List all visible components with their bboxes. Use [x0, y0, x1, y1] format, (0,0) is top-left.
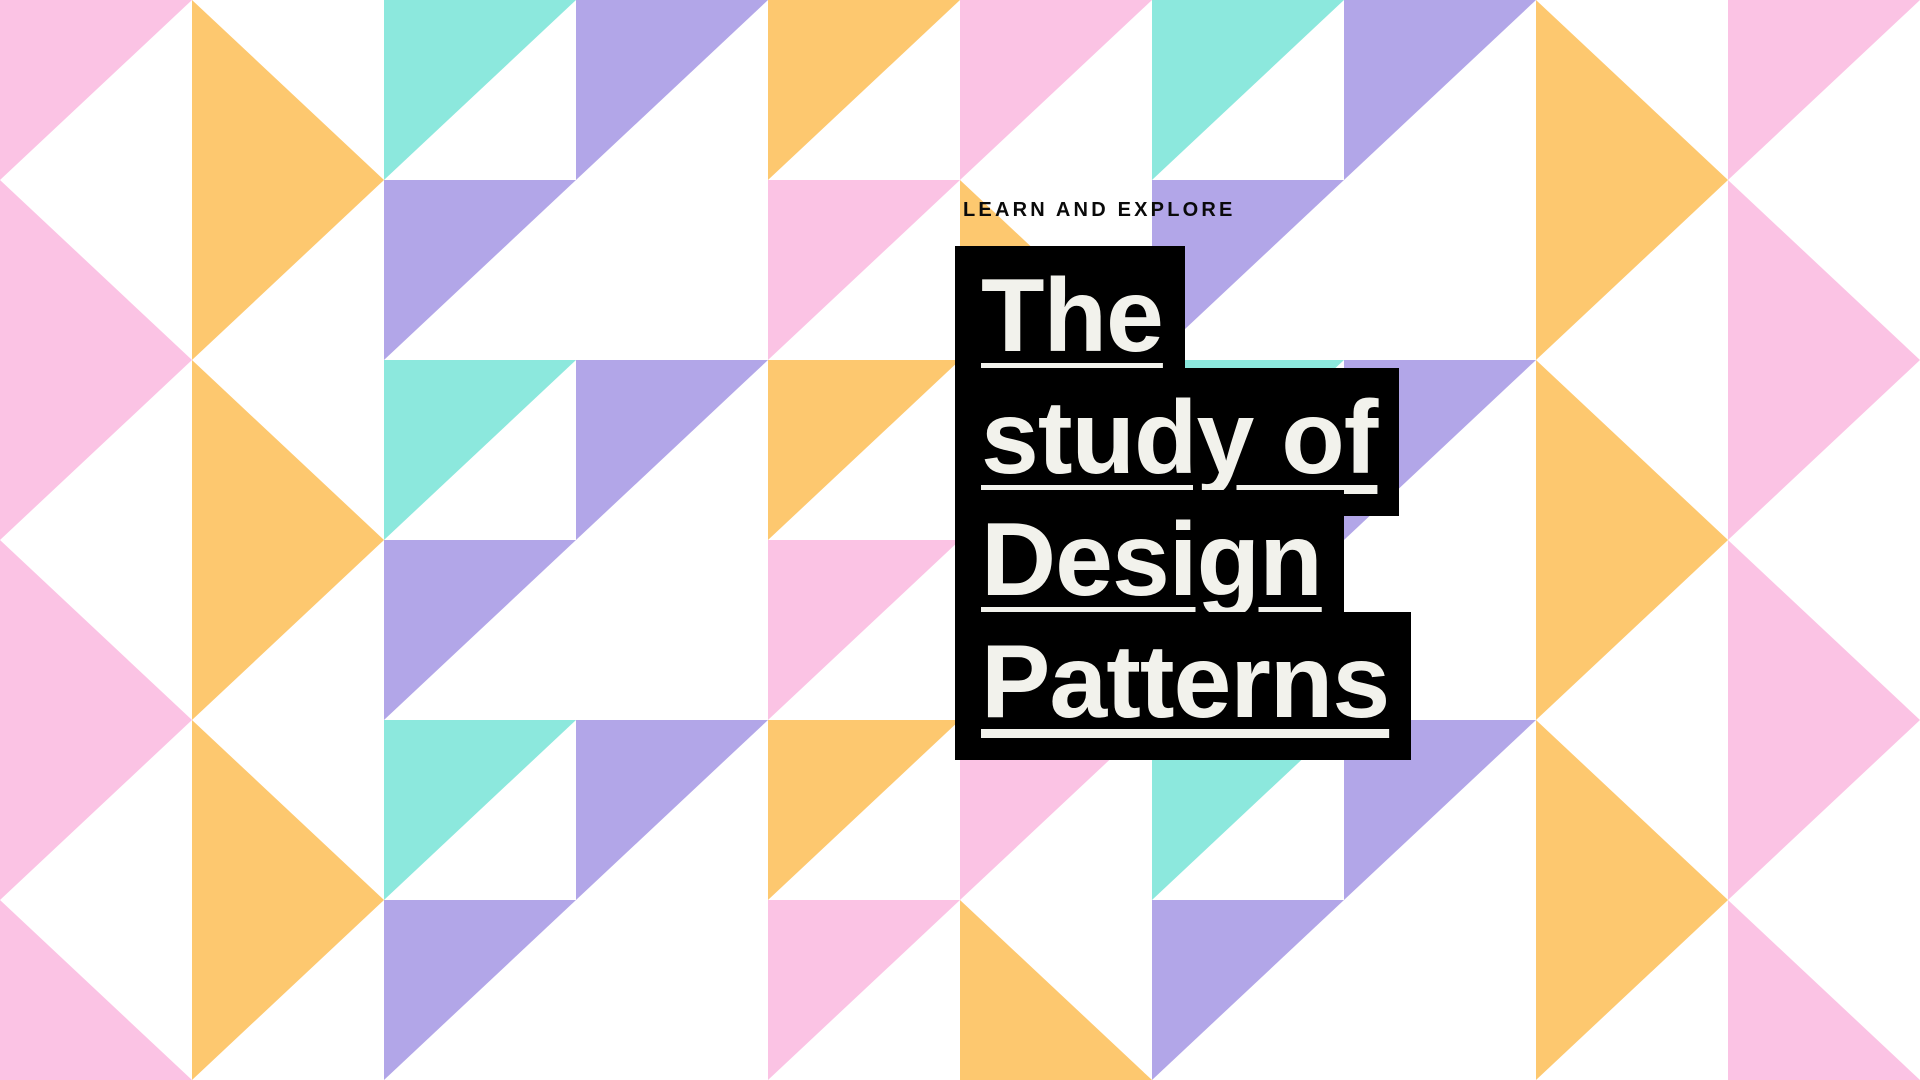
page-title: The study of Design Patterns [955, 246, 1675, 760]
slide-canvas: LEARN AND EXPLORE The study of Design Pa… [0, 0, 1920, 1080]
eyebrow-label: LEARN AND EXPLORE [963, 200, 1675, 220]
headline-line-4: Patterns [955, 612, 1411, 760]
hero-text-block: LEARN AND EXPLORE The study of Design Pa… [955, 200, 1675, 760]
headline-line: Patterns [955, 638, 1675, 760]
